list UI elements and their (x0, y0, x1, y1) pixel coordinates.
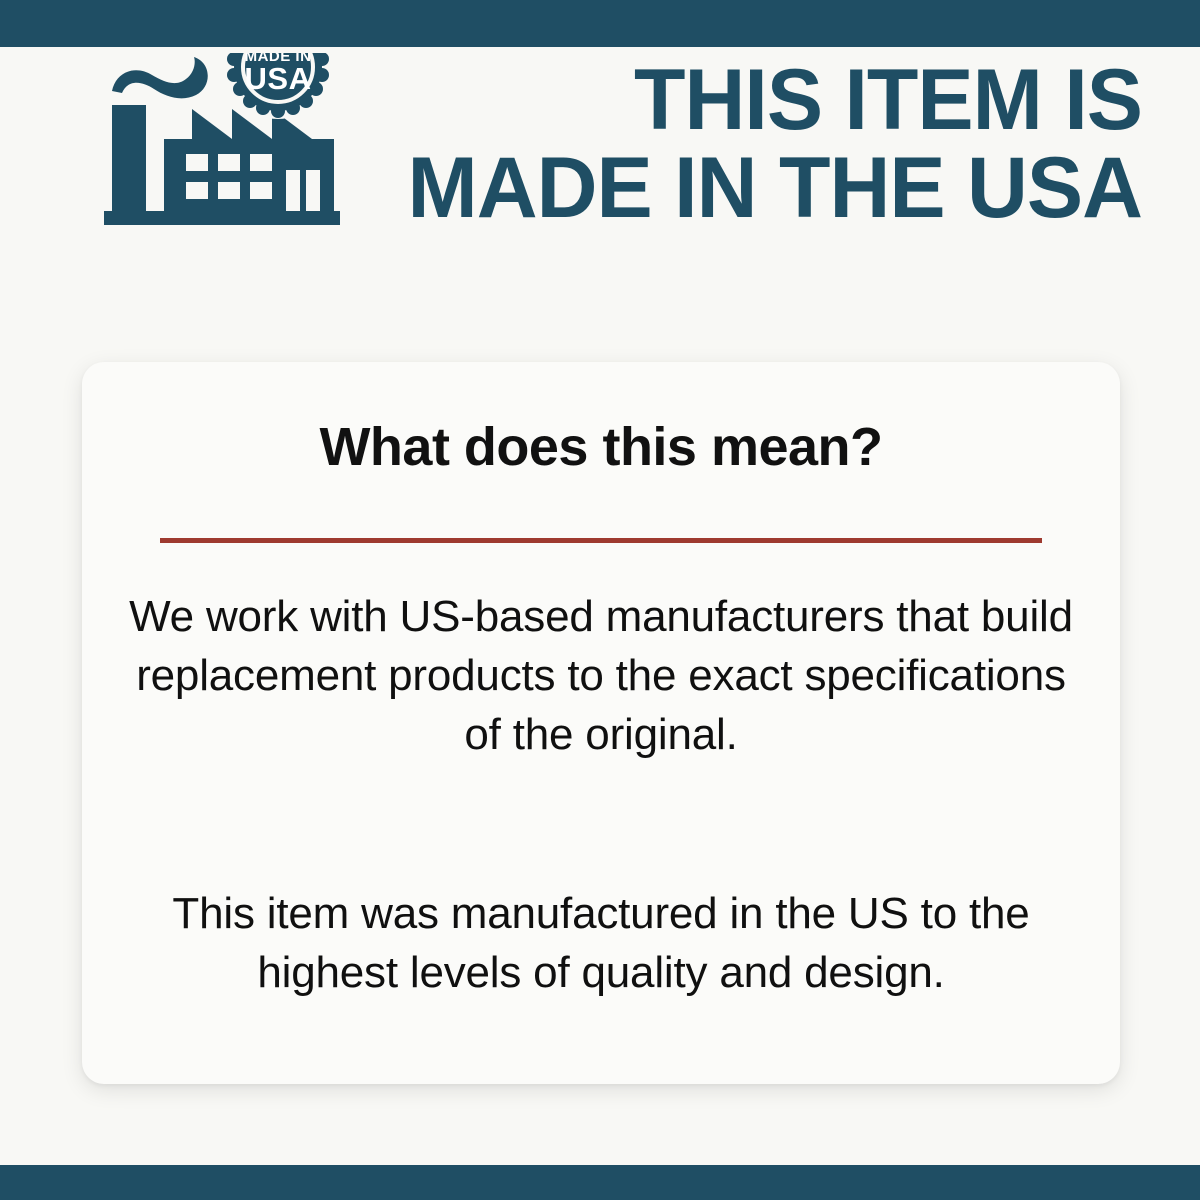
card-body: We work with US-based manufacturers that… (122, 587, 1080, 1002)
title-line-1: THIS ITEM IS (397, 56, 1142, 144)
heading-divider (160, 538, 1042, 543)
window-shape (250, 182, 272, 199)
window-shape (218, 154, 240, 171)
window-shape (250, 154, 272, 171)
door-shape (306, 170, 320, 211)
header-title: THIS ITEM IS MADE IN THE USA (382, 56, 1142, 232)
title-line-2: MADE IN THE USA (397, 144, 1142, 232)
made-in-usa-badge: MADE IN USA (226, 53, 330, 119)
paragraph-2: This item was manufactured in the US to … (122, 884, 1080, 1002)
window-shape (186, 154, 208, 171)
chimney-shape (112, 105, 146, 211)
door-shape (286, 170, 300, 211)
header: MADE IN USA THIS ITEM IS MADE IN THE USA (0, 48, 1200, 248)
base-shape (104, 211, 340, 225)
info-card: What does this mean? We work with US-bas… (82, 362, 1120, 1084)
smoke-icon (112, 57, 208, 98)
window-shape (218, 182, 240, 199)
card-heading: What does this mean? (82, 418, 1120, 476)
badge-line2: USA (245, 61, 312, 96)
bottom-accent-bar (0, 1165, 1200, 1200)
annex-shape (272, 139, 334, 211)
factory-logo: MADE IN USA (100, 53, 350, 233)
paragraph-1: We work with US-based manufacturers that… (122, 587, 1080, 764)
window-shape (186, 182, 208, 199)
top-accent-bar (0, 0, 1200, 47)
